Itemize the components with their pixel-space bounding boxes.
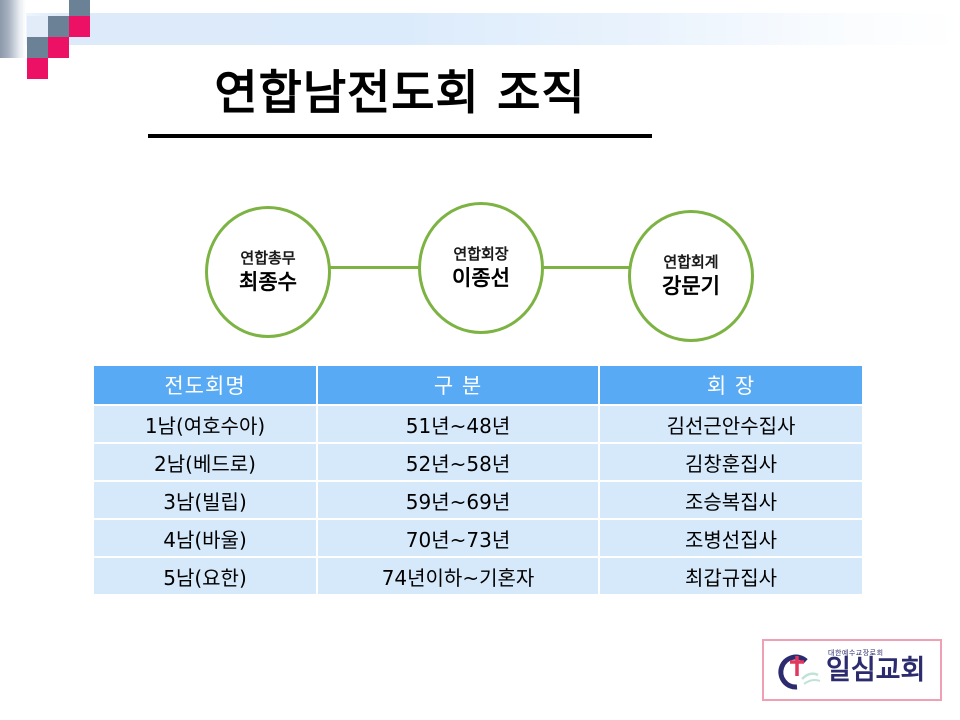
table-cell-leader: 조병선집사 [600,520,862,556]
org-node-treasurer[interactable]: 연합회계 강문기 [628,210,754,342]
decor-square-pink-2 [48,37,69,58]
table-header-cell: 전도회명 [94,366,316,404]
table-row: 5남(요한) 74년이하~기혼자 최갑규집사 [94,558,862,594]
table-header-row: 전도회명 구 분 회 장 [94,366,862,404]
top-banner-bar [0,13,960,45]
org-node-name: 최종수 [239,271,297,294]
org-node-president[interactable]: 연합회장 이종선 [418,202,544,334]
table-cell-leader: 김창훈집사 [600,444,862,480]
org-node-role: 연합회계 [663,254,718,271]
table-cell-group-name: 1남(여호수아) [94,406,316,442]
org-node-role: 연합총무 [240,250,295,267]
table-cell-age-range: 74년이하~기혼자 [318,558,598,594]
org-node-role: 연합회장 [453,246,508,263]
church-emblem-icon [772,649,824,695]
table-cell-group-name: 3남(빌립) [94,482,316,518]
org-node-name: 강문기 [662,275,720,298]
table-row: 2남(베드로) 52년~58년 김창훈집사 [94,444,862,480]
table-header-cell: 회 장 [600,366,862,404]
decor-square-slate-3 [27,37,48,58]
table-cell-group-name: 4남(바울) [94,520,316,556]
table-header-cell: 구 분 [318,366,598,404]
table-cell-age-range: 59년~69년 [318,482,598,518]
table-cell-age-range: 52년~58년 [318,444,598,480]
table-row: 1남(여호수아) 51년~48년 김선근안수집사 [94,406,862,442]
table-cell-age-range: 70년~73년 [318,520,598,556]
org-connector-president-treasurer [535,266,635,269]
table-row: 3남(빌립) 59년~69년 조승복집사 [94,482,862,518]
evangelism-groups-table: 전도회명 구 분 회 장 1남(여호수아) 51년~48년 김선근안수집사 2남… [92,364,864,596]
top-left-gradient [0,0,26,58]
page-title: 연합남전도회 조직 [148,66,652,121]
decor-square-slate-2 [48,16,69,37]
logo-church-name: 일심교회 [826,657,925,684]
decor-square-pink-3 [27,58,48,79]
title-underline [148,134,652,138]
org-connector-secretary-president [320,266,430,269]
table-cell-leader: 김선근안수집사 [600,406,862,442]
org-node-name: 이종선 [452,267,510,290]
table-row: 4남(바울) 70년~73년 조병선집사 [94,520,862,556]
church-logo: 대한예수교장로회 일심교회 [762,639,942,701]
table-cell-leader: 최갑규집사 [600,558,862,594]
org-node-general-secretary[interactable]: 연합총무 최종수 [205,206,331,338]
table-cell-group-name: 5남(요한) [94,558,316,594]
table-cell-age-range: 51년~48년 [318,406,598,442]
table-cell-group-name: 2남(베드로) [94,444,316,480]
decor-square-pale-1 [27,16,48,37]
table-cell-leader: 조승복집사 [600,482,862,518]
decor-square-pink-1 [69,16,90,37]
